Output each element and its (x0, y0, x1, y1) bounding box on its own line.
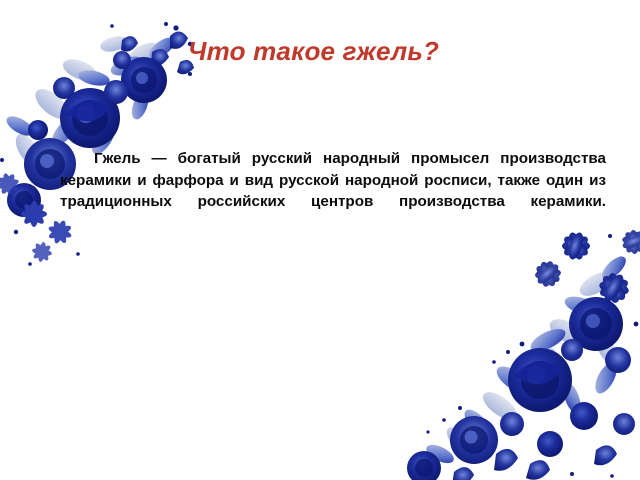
slide-canvas: Что такое гжель? Гжель — богатый русский… (0, 0, 640, 480)
gzhel-floral-ornament-bottom-right-icon (400, 228, 640, 480)
page-title: Что такое гжель? (188, 36, 528, 67)
slide-body-text: Гжель — богатый русский народный промысе… (60, 148, 606, 234)
